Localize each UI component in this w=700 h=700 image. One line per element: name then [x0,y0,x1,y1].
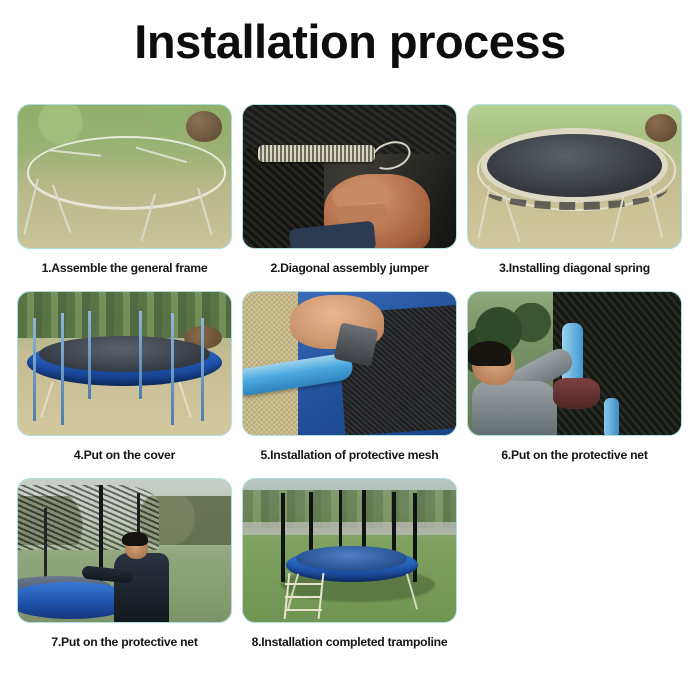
enclosure-pole-shape [139,311,142,400]
step-caption-5: 5.Installation of protective mesh [242,436,457,471]
step-card-7: 7.Put on the protective net [17,478,232,658]
page-title: Installation process [0,16,700,69]
step-card-8: 8.Installation completed trampoline [242,478,457,658]
enclosure-pole-shape [61,313,64,425]
torso-shape [472,381,557,436]
frame-leg-shape [178,381,191,417]
jump-mat-shape [296,546,407,570]
step-image-3 [467,104,682,249]
step-card-3: 3.Installing diagonal spring [467,104,682,284]
step-caption-3: 3.Installing diagonal spring [467,249,682,284]
step-image-7 [17,478,232,623]
ladder-shape [283,573,323,619]
step-image-6 [467,291,682,436]
step-card-6: 6.Put on the protective net [467,291,682,471]
step-card-1: 1.Assemble the general frame [17,104,232,284]
foam-pole-sleeve-shape [604,398,619,436]
installation-process-page: Installation process 1.Assemble the gene… [0,0,700,700]
ladder-rung-shape [285,609,322,611]
path-shape [243,522,456,535]
hair-shape [122,532,148,546]
spring-shape [258,145,375,162]
step-caption-7: 7.Put on the protective net [17,623,232,658]
enclosure-pole-shape [281,493,285,582]
frame-leg-shape [40,381,53,417]
spring-row-shape [481,166,668,210]
enclosure-pole-shape [201,318,204,421]
rock-shape [645,114,677,143]
steps-grid: 1.Assemble the general frame 2.Diagonal … [17,104,683,658]
step-card-4: 4.Put on the cover [17,291,232,471]
step-caption-4: 4.Put on the cover [17,436,232,471]
step-image-8 [242,478,457,623]
frame-leg-shape [23,179,38,235]
step-card-2: 2.Diagonal assembly jumper [242,104,457,284]
glove-shape [553,378,600,409]
enclosure-pole-shape [88,311,91,400]
torso-shape [114,553,169,622]
ladder-rung-shape [285,583,322,585]
step-caption-2: 2.Diagonal assembly jumper [242,249,457,284]
step-caption-1: 1.Assemble the general frame [17,249,232,284]
hair-shape [468,341,511,367]
step-image-1 [17,104,232,249]
step-caption-8: 8.Installation completed trampoline [242,623,457,658]
enclosure-pole-shape [33,318,36,421]
rock-shape [186,111,222,142]
step-caption-6: 6.Put on the protective net [467,436,682,471]
ladder-rung-shape [285,596,322,598]
enclosure-pole-shape [171,313,174,425]
jump-mat-shape [39,336,209,372]
step-image-4 [17,291,232,436]
step-image-2 [242,104,457,249]
enclosure-pole-shape [44,508,47,585]
step-image-5 [242,291,457,436]
step-card-5: 5.Installation of protective mesh [242,291,457,471]
